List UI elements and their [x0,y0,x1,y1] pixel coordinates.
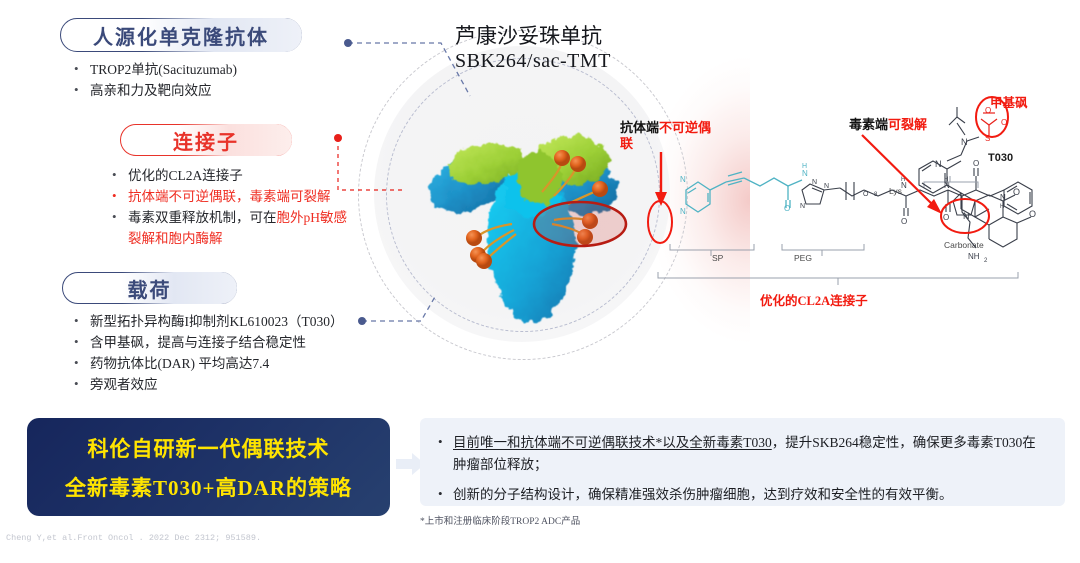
bullet-list-antibody: TROP2单抗(Sacituzumab) 高亲和力及靶向效应 [72,60,372,102]
list-item: 药物抗体比(DAR) 平均高达7.4 [72,354,372,375]
antibody-structure-graphic [356,28,696,368]
svg-text:N: N [963,211,970,221]
page-title: 芦康沙妥珠单抗 [455,22,602,50]
svg-text:N: N [680,207,686,216]
svg-text:O: O [1029,209,1036,219]
svg-text:N: N [961,137,968,147]
conclusions-panel: 目前唯一和抗体端不可逆偶联技术*以及全新毒素T030，提升SKB264稳定性，确… [420,418,1065,506]
conjugation-site-highlight [534,202,626,246]
footnote-text: *上市和注册临床阶段TROP2 ADC产品 [420,513,580,527]
conclusion-rest-part: 创新的分子结构设计，确保精准强效杀伤肿瘤细胞，达到疗效和安全性的有效平衡。 [453,487,953,502]
t030-toxin-structure: N N N O O O O S [905,95,1080,285]
list-item: 毒素双重释放机制，可在胞外pH敏感裂解和胞内酶解 [110,208,358,250]
svg-text:8: 8 [874,192,878,198]
citation-text: Cheng Y,et al.Front Oncol . 2022 Dec 231… [6,533,261,543]
section-header-antibody: 人源化单克隆抗体 [60,18,302,52]
page-subtitle: SBK264/sac-TMT [455,50,611,73]
svg-text:O: O [985,106,991,115]
list-item: 新型拓扑异构酶I抑制剂KL610023（T030） [72,312,372,333]
annotation-antibody-end-red2: 联 [620,136,633,151]
list-item: 优化的CL2A连接子 [110,166,358,187]
svg-text:N: N [800,203,805,210]
list-item: 含甲基砜，提高与连接子结合稳定性 [72,333,372,354]
svg-text:S: S [985,134,990,143]
svg-text:N: N [802,169,808,178]
section-header-payload: 载荷 [62,272,237,304]
svg-text:N: N [935,159,942,169]
summary-callout-box: 科伦自研新一代偶联技术 全新毒素T030+高DAR的策略 [27,418,390,516]
conclusions-list: 目前唯一和抗体端不可逆偶联技术*以及全新毒素T030，提升SKB264稳定性，确… [436,432,1049,506]
svg-text:N: N [824,183,829,190]
list-item: TROP2单抗(Sacituzumab) [72,60,372,81]
section-header-antibody-label: 人源化单克隆抗体 [93,21,269,50]
section-header-linker-label: 连接子 [173,126,239,155]
svg-text:N: N [812,179,817,186]
connector-dot-title [344,39,352,47]
slide-canvas: 芦康沙妥珠单抗 SBK264/sac-TMT 人源化单克隆抗体 TROP2单抗(… [0,0,1080,563]
svg-text:N: N [680,175,686,184]
conclusion-underlined-part: 目前唯一和抗体端不可逆偶联技术*以及全新毒素T030 [453,435,772,450]
bullet-list-linker: 优化的CL2A连接子 抗体端不可逆偶联，毒素端可裂解 毒素双重释放机制，可在胞外… [110,166,358,250]
connector-dot-linker [334,134,342,142]
svg-text:O: O [863,191,869,198]
bullet-list-payload: 新型拓扑异构酶I抑制剂KL610023（T030） 含甲基砜，提高与连接子结合稳… [72,312,372,396]
summary-line-2: 全新毒素T030+高DAR的策略 [65,472,352,502]
svg-text:O: O [1013,187,1020,197]
section-header-linker: 连接子 [120,124,292,156]
svg-text:O: O [1001,118,1007,127]
list-item: 目前唯一和抗体端不可逆偶联技术*以及全新毒素T030，提升SKB264稳定性，确… [436,432,1049,477]
list-item: 抗体端不可逆偶联，毒素端可裂解 [110,187,358,208]
section-header-payload-label: 载荷 [128,274,172,303]
svg-text:O: O [784,204,790,213]
list-item: 旁观者效应 [72,375,372,396]
svg-text:H: H [802,163,807,170]
list-item: 高亲和力及靶向效应 [72,81,372,102]
list-item: 创新的分子结构设计，确保精准强效杀伤肿瘤细胞，达到疗效和安全性的有效平衡。 [436,484,1049,506]
summary-line-1: 科伦自研新一代偶联技术 [88,433,330,463]
